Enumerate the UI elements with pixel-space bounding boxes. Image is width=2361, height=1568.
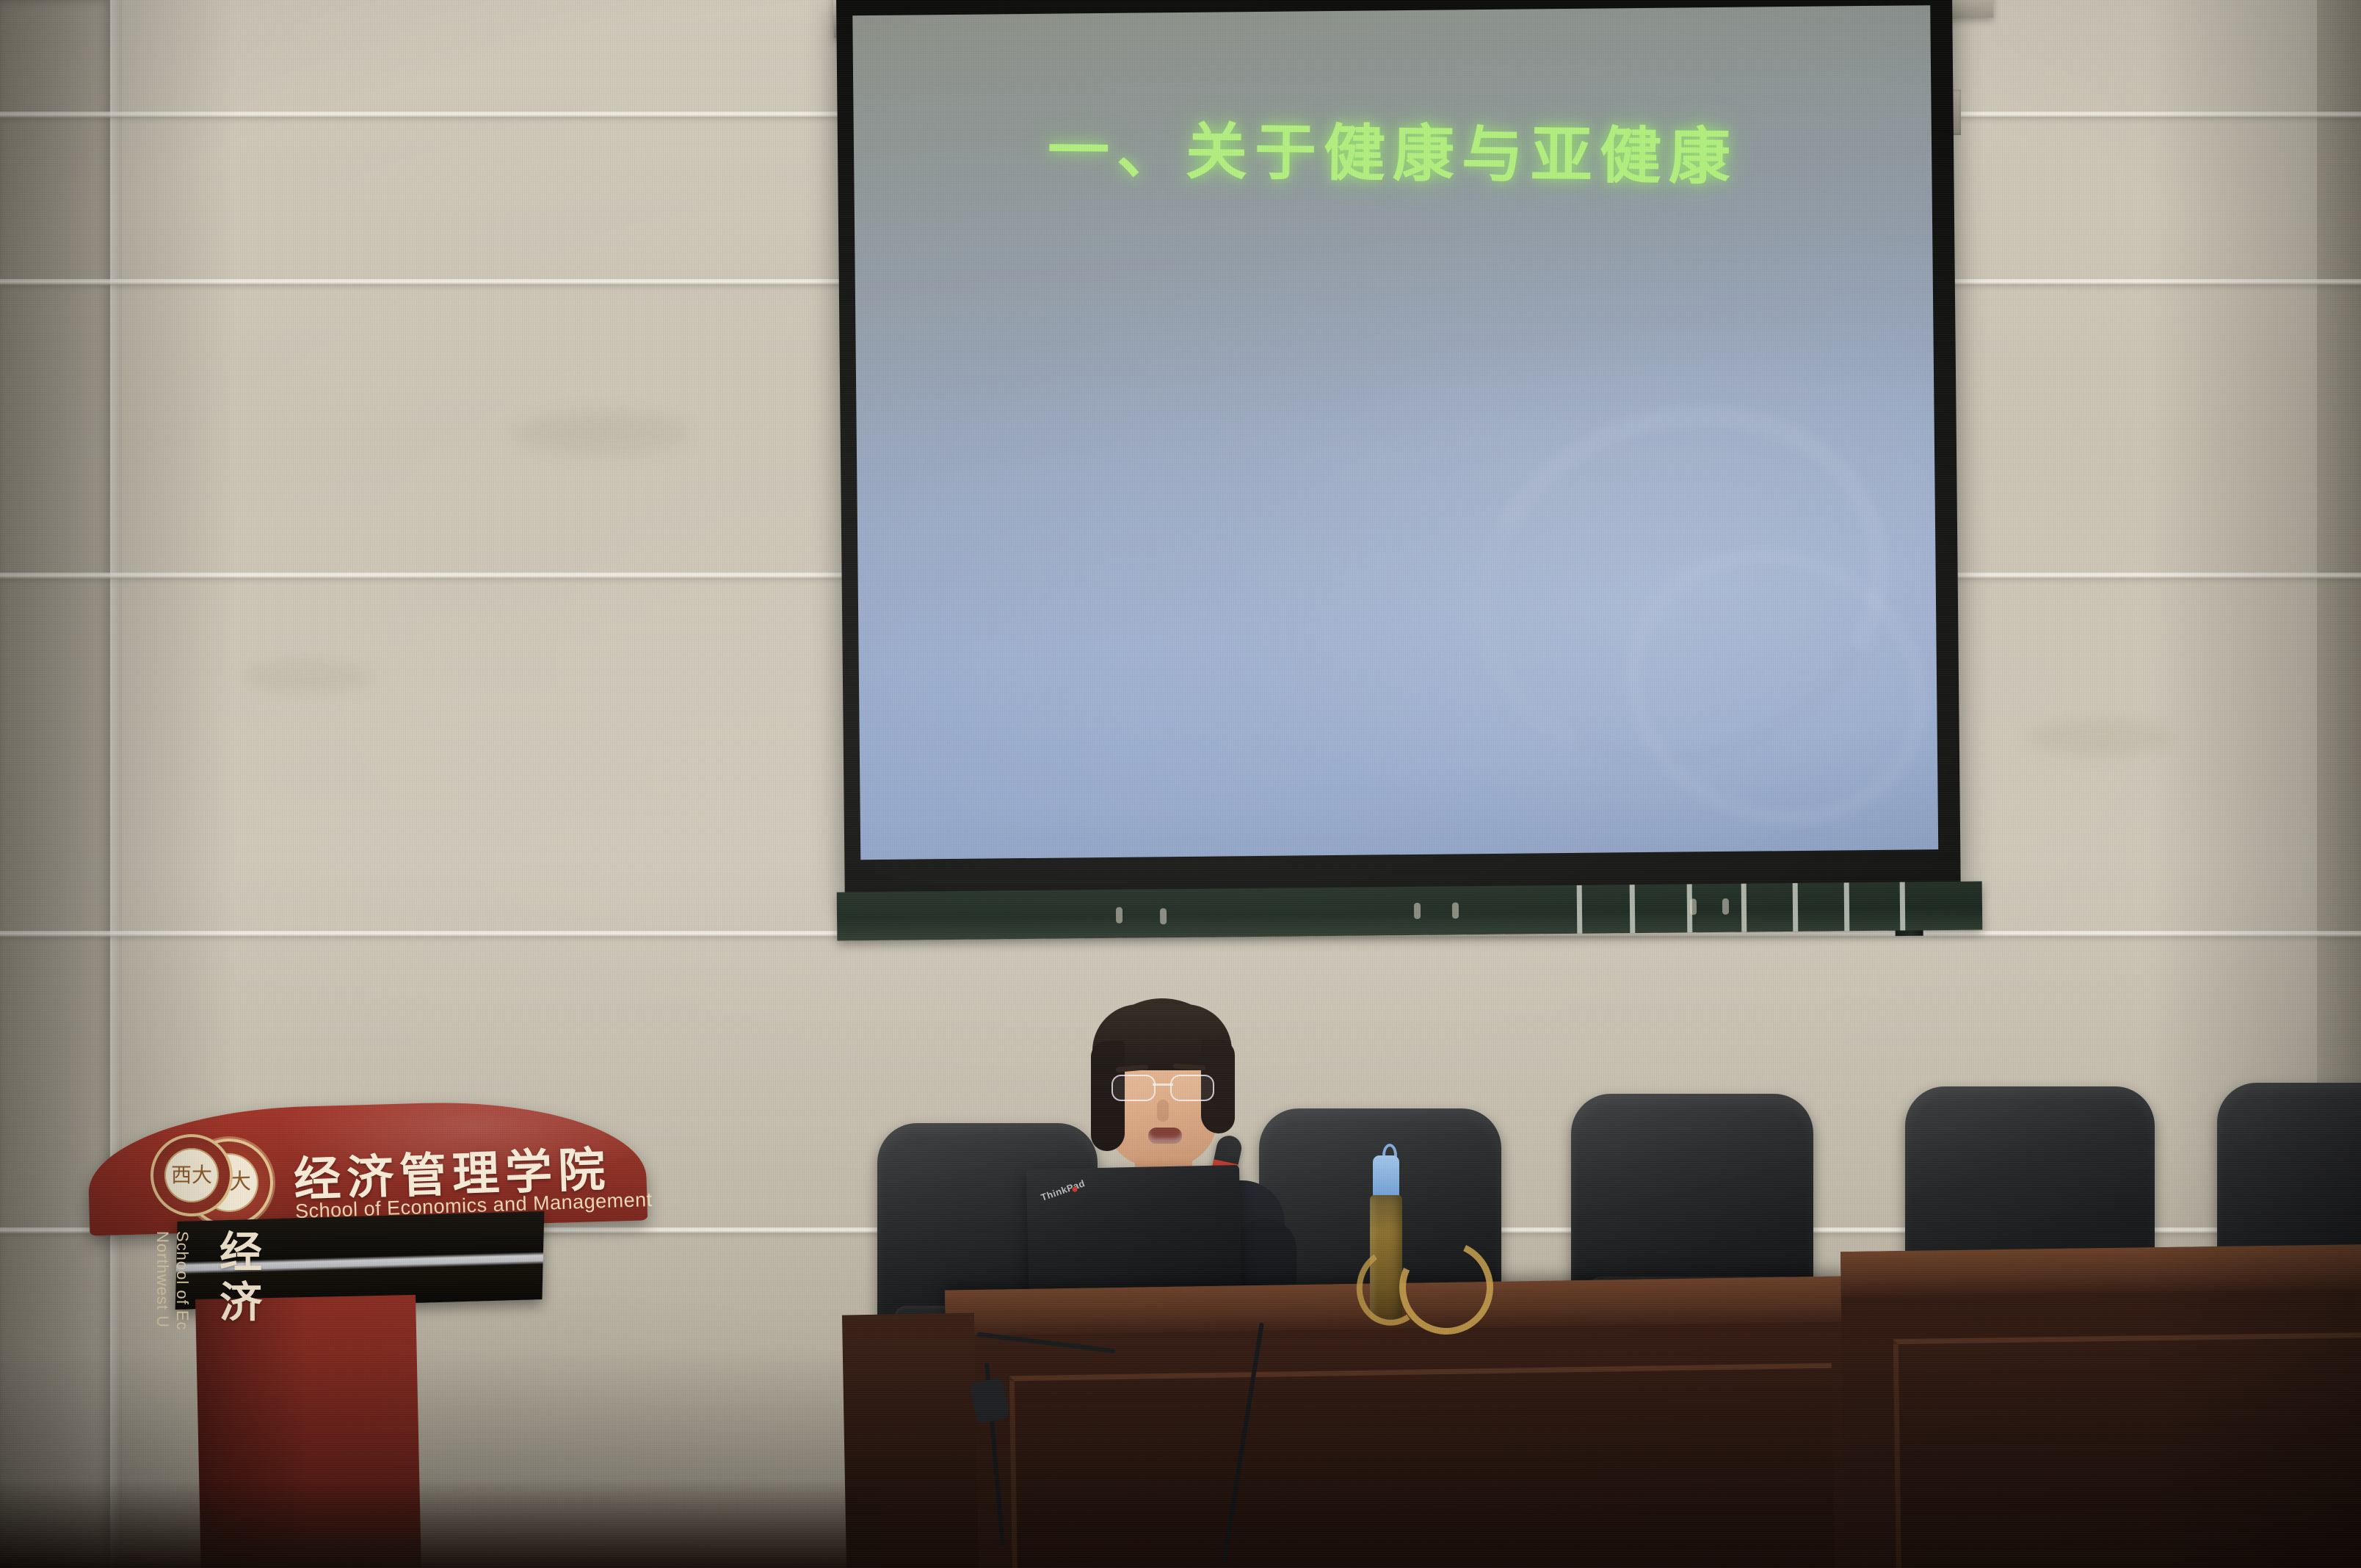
bottle-cap: [1373, 1155, 1399, 1198]
projection-screen: 一、关于健康与亚健康: [836, 0, 1987, 915]
nose: [1157, 1100, 1169, 1122]
eyeglasses-icon: [1111, 1075, 1214, 1100]
podium-column-name-cn: 经济: [206, 1230, 267, 1329]
wall-smudge: [242, 661, 374, 693]
projection-screen-surface: 一、关于健康与亚健康: [852, 5, 1938, 860]
seal-glyph: 西大: [153, 1165, 230, 1186]
podium-column-name-en-line2: Northwest U: [153, 1231, 172, 1328]
university-seal-icon: 西大: [150, 1134, 233, 1216]
mouth: [1148, 1128, 1182, 1144]
wall-smudge: [2026, 719, 2173, 756]
conference-table-right-segment: [1840, 1244, 2361, 1568]
floor-shadow: [0, 1480, 881, 1568]
slide-title: 一、关于健康与亚健康: [853, 99, 1932, 198]
lecture-hall-scene: Redleaf 一、关于健康与亚健康: [0, 0, 2361, 1568]
wall-smudge: [514, 411, 690, 455]
podium-column-name-en-line1: School of Ec: [173, 1231, 192, 1331]
